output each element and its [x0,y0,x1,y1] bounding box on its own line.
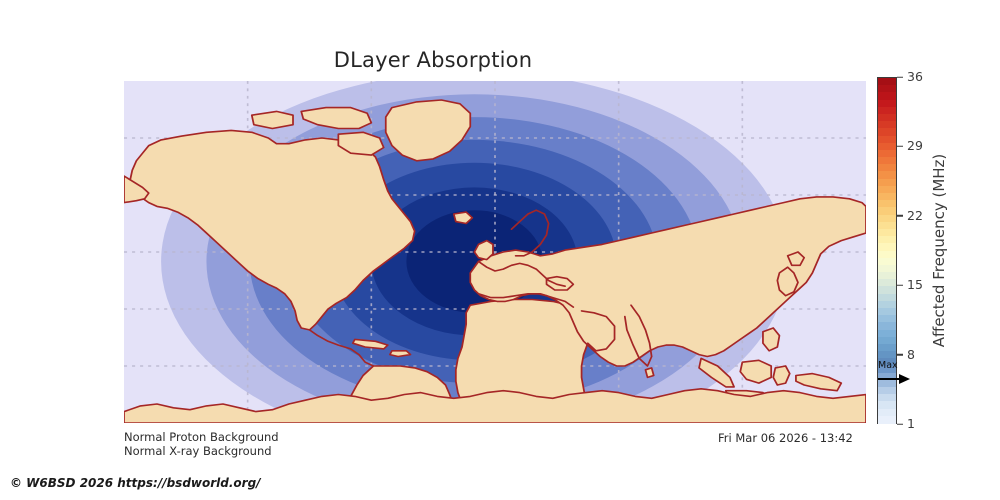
land-philippines [763,328,779,351]
copyright-notice: © W6BSD 2026 https://bsdworld.org/ [10,476,261,490]
land-hispaniola [390,351,411,357]
tick-dash-icon [897,146,903,147]
tick-label: 15 [907,279,923,292]
colorbar-tick: 22 [897,210,923,223]
colorbar-tick: 29 [897,140,923,153]
colorbar-segment [878,416,896,424]
colorbar-tick: 15 [897,279,923,292]
tick-label: 22 [907,210,923,223]
note-xray-background: Normal X-ray Background [124,444,272,458]
tick-label: 1 [907,418,915,431]
land-sri-lanka [645,368,653,378]
land-sulawesi [773,366,789,385]
note-proton-background: Normal Proton Background [124,430,279,444]
tick-label: 36 [907,71,923,84]
colorbar-tick: 36 [897,71,923,84]
tick-dash-icon [897,423,903,424]
tick-dash-icon [897,354,903,355]
map-svg [124,81,866,423]
land-borneo [740,360,771,383]
tick-label: 29 [907,140,923,153]
tick-dash-icon [897,215,903,216]
timestamp: Fri Mar 06 2026 - 13:42 [718,431,853,445]
world-map-axes[interactable] [124,81,866,423]
page-title: DLayer Absorption [0,48,866,72]
dlayer-absorption-page: DLayer Absorption [0,0,1000,500]
colorbar-axis-label: Affected Frequency (MHz) [930,77,952,424]
land-new-guinea [796,374,841,391]
tick-dash-icon [897,76,903,77]
tick-dash-icon [897,284,903,285]
land-arctic-islands-2 [252,111,293,128]
tick-label: 8 [907,348,915,361]
colorbar[interactable] [877,77,897,424]
colorbar-gradient [877,77,897,424]
colorbar-tick: 1 [897,418,915,431]
colorbar-tick: 8 [897,348,915,361]
